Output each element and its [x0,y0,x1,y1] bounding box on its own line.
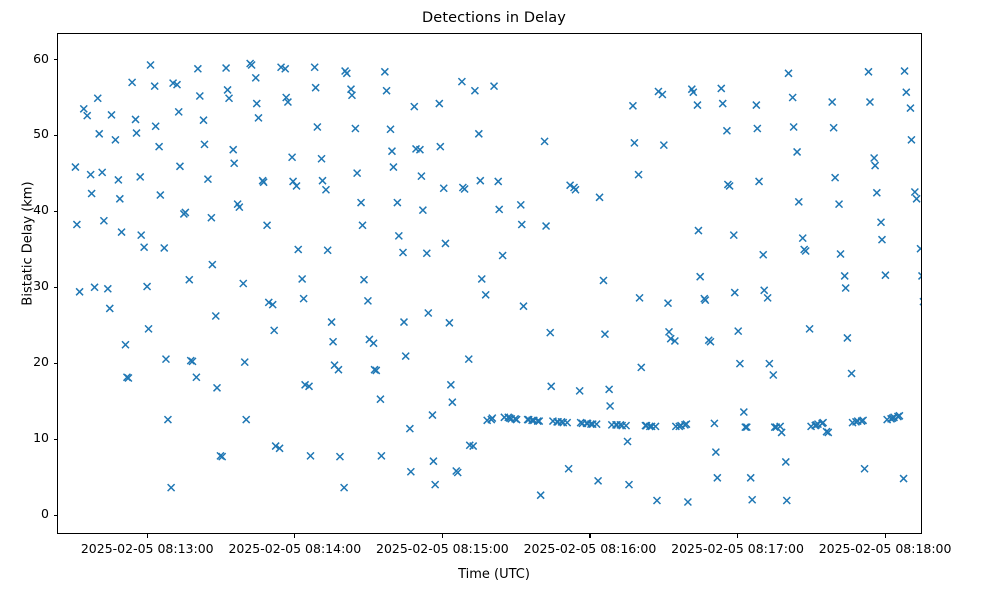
scatter-point [347,86,354,93]
scatter-point [736,360,743,367]
scatter-point [606,386,613,393]
scatter-point [841,272,848,279]
scatter-point [623,422,630,429]
scatter-point [406,425,413,432]
scatter-point [387,126,394,133]
x-tick-mark [294,534,295,538]
scatter-point [214,384,221,391]
scatter-point [882,272,889,279]
scatter-point [712,449,719,456]
scatter-point [226,95,233,102]
scatter-point [312,84,319,91]
scatter-point [72,164,79,171]
scatter-point [844,334,851,341]
scatter-point [112,136,119,143]
scatter-point [204,176,211,183]
scatter-point [402,353,409,360]
scatter-point [324,247,331,254]
scatter-point [593,421,600,428]
scatter-point [756,178,763,185]
y-axis-label: Bistatic Delay (km) [21,144,36,344]
scatter-point [878,219,885,226]
scatter-point [96,130,103,137]
scatter-point [684,499,691,506]
scatter-point [104,285,111,292]
scatter-point [138,232,145,239]
scatter-point [255,114,262,121]
scatter-point [660,142,667,149]
scatter-point [359,222,366,229]
x-axis-label: Time (UTC) [0,567,988,582]
scatter-point [194,65,201,72]
scatter-point [141,244,148,251]
scatter-point [790,124,797,131]
scatter-point [918,272,921,279]
scatter-point [495,178,502,185]
scatter-point [400,319,407,326]
scatter-point [624,438,631,445]
scatter-point [806,325,813,332]
scatter-point [161,244,168,251]
y-tick-label: 10 [0,430,49,445]
scatter-point [381,68,388,75]
scatter-point [383,87,390,94]
scatter-point [429,412,436,419]
scatter-point [697,273,704,280]
scatter-point [440,185,447,192]
scatter-point [116,195,123,202]
scatter-point [901,68,908,75]
scatter-point [600,277,607,284]
y-tick-label: 60 [0,51,49,66]
scatter-point [747,474,754,481]
x-tick-mark [737,534,738,538]
scatter-point [186,276,193,283]
scatter-point [395,232,402,239]
scatter-point [730,232,737,239]
scatter-point [99,169,106,176]
scatter-point [94,95,101,102]
scatter-point [477,177,484,184]
scatter-point [271,327,278,334]
scatter-point [88,190,95,197]
page-title: Detections in Delay [0,10,988,26]
scatter-point [343,70,350,77]
x-tick-mark [589,534,590,538]
scatter-point [783,497,790,504]
scatter-point [908,136,915,143]
scatter-point [913,195,920,202]
scatter-point [861,465,868,472]
scatter-point [360,276,367,283]
scatter-point [411,103,418,110]
scatter-point [903,89,910,96]
scatter-point [208,214,215,221]
scatter-point [878,236,885,243]
scatter-point [295,246,302,253]
scatter-point [607,402,614,409]
scatter-point [626,481,633,488]
scatter-point [129,79,136,86]
scatter-point [418,173,425,180]
scatter-point [723,127,730,134]
scatter-point [144,283,151,290]
scatter-point [629,102,636,109]
x-tick-mark [442,534,443,538]
scatter-point [537,492,544,499]
scatter-point [290,178,297,185]
scatter-point [482,291,489,298]
scatter-point [475,130,482,137]
scatter-point [770,371,777,378]
scatter-point [572,186,579,193]
scatter-point [432,481,439,488]
scatter-point [832,174,839,181]
scatter-point [299,275,306,282]
scatter-point [446,319,453,326]
scatter-point [100,217,107,224]
scatter-point [795,198,802,205]
scatter-point [318,155,325,162]
scatter-point [785,70,792,77]
scatter-point [157,192,164,199]
scatter-point [635,171,642,178]
plot-area [57,33,922,534]
scatter-point [241,359,248,366]
scatter-point [761,287,768,294]
scatter-point [87,171,94,178]
scatter-point [390,164,397,171]
scatter-point [378,452,385,459]
scatter-point [335,366,342,373]
scatter-point [458,78,465,85]
scatter-point [201,141,208,148]
scatter-point [137,173,144,180]
y-tick-label: 30 [0,278,49,293]
scatter-point [740,409,747,416]
y-tick-label: 50 [0,126,49,141]
scatter-point [330,338,337,345]
scatter-point [264,222,271,229]
scatter-point [73,221,80,228]
scatter-point [133,130,140,137]
scatter-point [564,419,571,426]
scatter-point [652,423,659,430]
scatter-point [836,201,843,208]
scatter-point [900,475,907,482]
scatter-point [314,124,321,131]
scatter-point [695,227,702,234]
scatter-point [307,452,314,459]
scatter-point [209,261,216,268]
scatter-point [200,117,207,124]
scatter-point [499,252,506,259]
scatter-point [711,420,718,427]
scatter-point [917,245,921,252]
scatter-point [653,497,660,504]
scatter-point [400,249,407,256]
scatter-point [196,93,203,100]
scatter-point [80,105,87,112]
scatter-point [252,74,259,81]
scatter-point [388,148,395,155]
scatter-point [84,112,91,119]
scatter-point [115,176,122,183]
scatter-point [471,87,478,94]
scatter-point [596,194,603,201]
scatter-point [76,288,83,295]
scatter-point [118,229,125,236]
scatter-point [871,155,878,162]
scatter-point [223,65,230,72]
scatter-point [465,356,472,363]
scatter-point [354,170,361,177]
scatter-point [377,396,384,403]
scatter-point [872,162,879,169]
scatter-point [328,319,335,326]
scatter-point [719,100,726,107]
scatter-point [122,341,129,348]
scatter-point [547,329,554,336]
scatter-point [336,453,343,460]
scatter-point [754,125,761,132]
scatter-point [145,325,152,332]
scatter-point [782,458,789,465]
scatter-point [799,235,806,242]
scatter-point [106,305,113,312]
scatter-point [659,91,666,98]
scatter-point [496,206,503,213]
scatter-point [230,146,237,153]
scatter-point [491,83,498,90]
scatter-point [848,370,855,377]
scatter-point [778,429,785,436]
scatter-point [293,182,300,189]
scatter-point [240,280,247,287]
scatter-point [601,331,608,338]
scatter-point [132,116,139,123]
matplotlib-figure: Detections in Delay Bistatic Delay (km) … [0,0,988,590]
scatter-point [348,92,355,99]
scatter-point [407,468,414,475]
scatter-point [437,143,444,150]
scatter-point [518,221,525,228]
scatter-point [231,160,238,167]
scatter-point [253,100,260,107]
scatter-point [162,356,169,363]
scatter-point [322,186,329,193]
scatter-point [829,99,836,106]
scatter-point [766,360,773,367]
scatter-point [224,86,231,93]
y-tick-label: 0 [0,506,49,521]
scatter-point [576,387,583,394]
scatter-point [595,477,602,484]
scatter-point [760,251,767,258]
scatter-point [108,111,115,118]
scatter-point [151,83,158,90]
scatter-point [175,108,182,115]
scatter-point [311,64,318,71]
scatter-point [193,374,200,381]
scatter-point [565,465,572,472]
scatter-point [370,340,377,347]
y-tick-label: 40 [0,202,49,217]
scatter-point [236,204,243,211]
scatter-point [364,297,371,304]
scatter-point [478,275,485,282]
scatter-point [352,125,359,132]
scatter-point [830,124,837,131]
scatter-point [749,496,756,503]
scatter-point [442,240,449,247]
scatter-point [341,484,348,491]
scatter-point [865,68,872,75]
scatter-point [152,123,159,130]
scatter-point [920,298,921,305]
scatter-point [319,177,326,184]
scatter-point [837,251,844,258]
scatter-point [436,100,443,107]
scatter-point [289,154,296,161]
scatter-point [212,313,219,320]
x-tick-label: 2025-02-05 08:18:00 [795,541,975,556]
scatter-point [430,458,437,465]
scatter-point [300,295,307,302]
scatter-point [794,148,801,155]
scatter-point [517,201,524,208]
scatter-point [911,189,918,196]
scatter-point [631,139,638,146]
scatter-point [873,189,880,196]
scatter-point [541,138,548,145]
scatter-point [548,383,555,390]
scatter-point [638,364,645,371]
scatter-point [764,294,771,301]
scatter-point [147,62,154,69]
scatter-point [156,143,163,150]
scatter-point [419,207,426,214]
x-tick-mark [885,534,886,538]
scatter-point [694,102,701,109]
scatter-point [731,289,738,296]
scatter-point [423,250,430,257]
scatter-series-detections [58,34,921,533]
scatter-point [789,94,796,101]
scatter-point [753,102,760,109]
scatter-point [520,303,527,310]
scatter-point [907,105,914,112]
scatter-point [665,300,672,307]
scatter-point [243,416,250,423]
scatter-point [718,85,725,92]
scatter-point [447,381,454,388]
scatter-point [866,99,873,106]
scatter-point [168,484,175,491]
scatter-point [164,416,171,423]
scatter-point [91,284,98,291]
x-tick-mark [147,534,148,538]
scatter-point [176,163,183,170]
scatter-point [543,223,550,230]
scatter-point [394,199,401,206]
scatter-point [714,474,721,481]
scatter-point [449,399,456,406]
scatter-point [636,294,643,301]
scatter-point [358,199,365,206]
y-tick-label: 20 [0,354,49,369]
scatter-point [842,285,849,292]
scatter-point [666,328,673,335]
scatter-point [425,310,432,317]
scatter-point [735,328,742,335]
